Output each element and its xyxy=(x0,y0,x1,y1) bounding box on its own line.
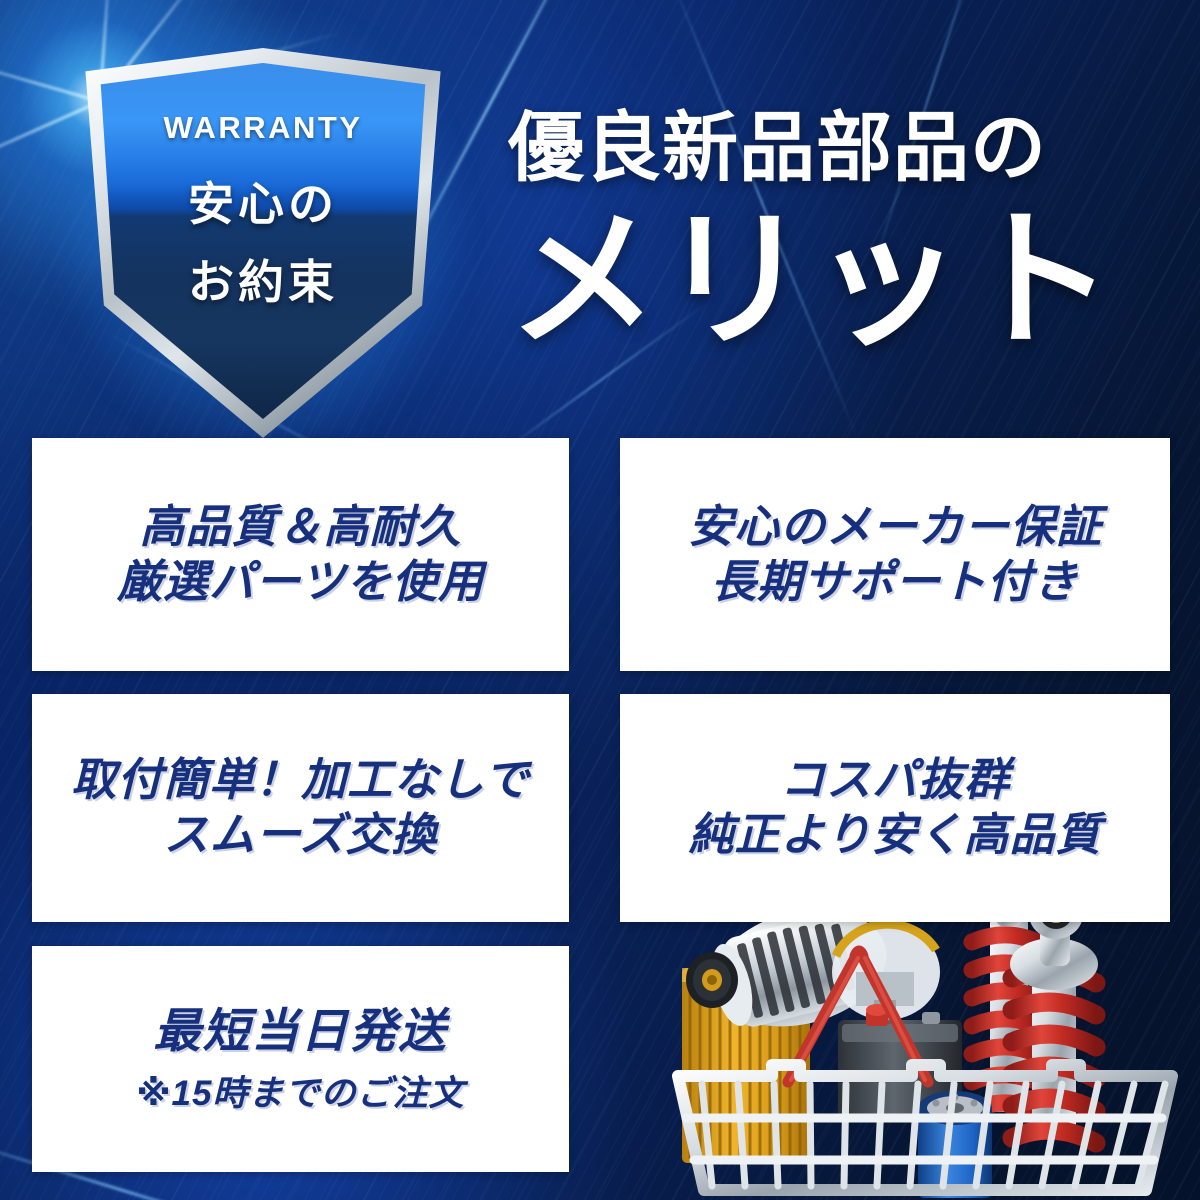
headline-group: 優良新品部品の メリット xyxy=(508,86,1188,360)
headline-line1: 優良新品部品の xyxy=(508,86,1188,196)
badge-jp-line1: 安心の xyxy=(188,168,338,234)
benefit-card-value: コスパ抜群 純正より安く高品質 xyxy=(620,694,1170,922)
benefit-card-warranty: 安心のメーカー保証 長期サポート付き xyxy=(620,438,1170,671)
benefit-card-quality: 高品質＆高耐久 厳選パーツを使用 xyxy=(32,438,569,671)
headline-line2: メリット xyxy=(508,202,1188,360)
shield-text-group: WARRANTY 安心の お約束 xyxy=(78,48,448,438)
benefit-card-line1: 取付簡単！加工なしで xyxy=(71,753,530,808)
warranty-label: WARRANTY xyxy=(163,110,362,146)
badge-jp-line2: お約束 xyxy=(188,246,338,312)
benefit-card-line1: コスパ抜群 xyxy=(780,753,1010,808)
benefit-card-line2: ※15時までのご注文 xyxy=(137,1073,465,1116)
benefit-card-shipping: 最短当日発送 ※15時までのご注文 xyxy=(32,946,569,1172)
warranty-shield-badge: WARRANTY 安心の お約束 xyxy=(78,48,448,438)
benefit-card-line2: 純正より安く高品質 xyxy=(688,808,1101,863)
benefit-card-line2: スムーズ交換 xyxy=(164,808,438,863)
benefit-card-line1: 安心のメーカー保証 xyxy=(688,500,1102,555)
benefit-card-install: 取付簡単！加工なしで スムーズ交換 xyxy=(32,694,569,922)
benefit-card-line2: 長期サポート付き xyxy=(711,555,1079,610)
promo-banner: WARRANTY 安心の お約束 優良新品部品の メリット 高品質＆高耐久 厳選… xyxy=(0,0,1200,1200)
benefit-card-line1: 高品質＆高耐久 xyxy=(139,500,461,555)
benefit-card-line2: 厳選パーツを使用 xyxy=(117,555,484,610)
benefit-card-line1: 最短当日発送 xyxy=(154,1002,448,1059)
